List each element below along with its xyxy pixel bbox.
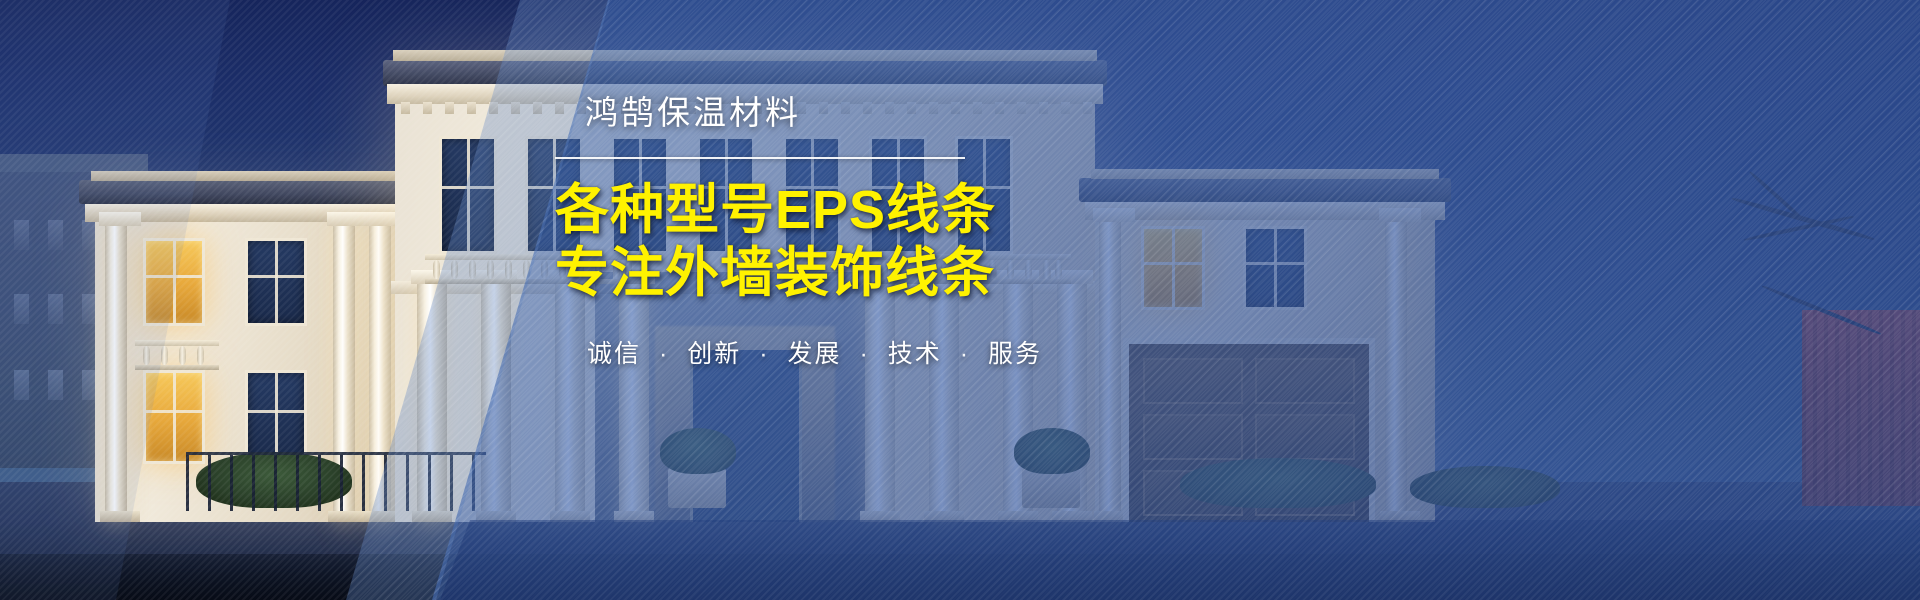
tagline: 诚信 · 创新 · 发展 · 技术 · 服务 xyxy=(555,334,1025,370)
company-name: 鸿鹄保温材料 xyxy=(555,96,1025,129)
headline-line-1: 各种型号EPS线条 xyxy=(555,179,1025,242)
tagline-item-1: 诚信 xyxy=(587,340,641,368)
tagline-item-3: 发展 xyxy=(788,340,842,368)
tagline-item-2: 创新 xyxy=(687,340,741,368)
tagline-separator: · xyxy=(859,340,869,368)
headline-line-2: 专注外墙装饰线条 xyxy=(555,242,1025,305)
tagline-separator: · xyxy=(659,340,669,368)
banner-text-block: 鸿鹄保温材料 各种型号EPS线条 专注外墙装饰线条 诚信 · 创新 · 发展 ·… xyxy=(555,96,1025,370)
hero-banner: 鸿鹄保温材料 各种型号EPS线条 专注外墙装饰线条 诚信 · 创新 · 发展 ·… xyxy=(0,0,1920,600)
tagline-item-4: 技术 xyxy=(888,340,942,368)
tagline-item-5: 服务 xyxy=(988,340,1042,368)
text-divider-line xyxy=(555,157,965,159)
tagline-separator: · xyxy=(759,340,769,368)
tagline-separator: · xyxy=(960,340,970,368)
headline-group: 各种型号EPS线条 专注外墙装饰线条 xyxy=(555,179,1025,304)
